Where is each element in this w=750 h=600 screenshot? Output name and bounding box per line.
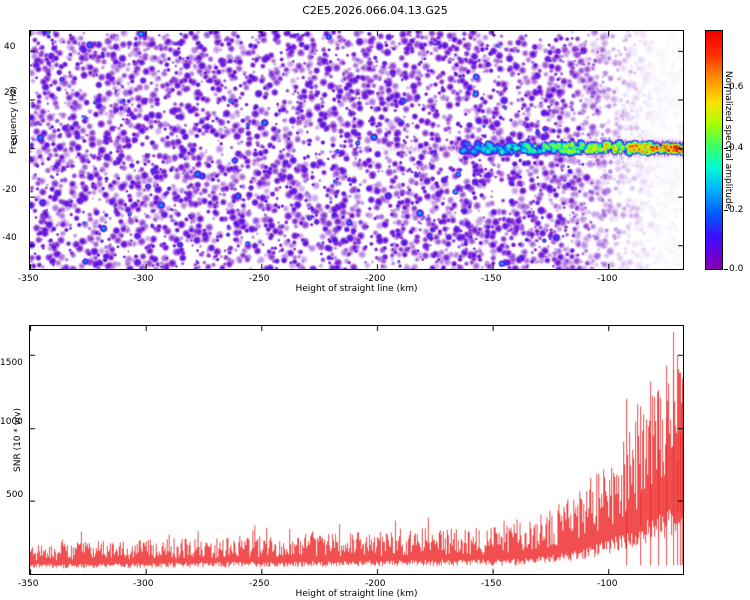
snr-xtick-150: -150 xyxy=(481,579,501,589)
spec-xtick-200: -200 xyxy=(365,274,385,284)
snr-xtick-300: -300 xyxy=(133,579,153,589)
spectrogram-x-axis-label: Height of straight line (km) xyxy=(29,284,684,294)
spectrogram-image xyxy=(30,31,683,269)
spec-xtick-250: -250 xyxy=(249,274,269,284)
snr-x-axis-label: Height of straight line (km) xyxy=(29,589,684,599)
spec-ytick-neg20: -20 xyxy=(2,185,17,195)
spectrogram-y-axis-label: Frequency (Hz) xyxy=(9,60,19,180)
colorbar-tick-0.0 xyxy=(724,269,728,270)
spec-ytick-neg40: -40 xyxy=(2,233,17,243)
snr-xtick-250: -250 xyxy=(249,579,269,589)
spectrogram-panel: 40 20 0 -20 -40 -350 -300 -250 -200 -150… xyxy=(0,0,750,300)
colorbar-ticklabel-0.0: 0.0 xyxy=(729,264,743,274)
spec-ytick-40: 40 xyxy=(4,42,15,52)
figure-root: C2E5.2026.066.04.13.G25 40 20 0 -20 -40 … xyxy=(0,0,750,600)
spec-xtick-150: -150 xyxy=(481,274,501,284)
spectrogram-plot-area xyxy=(29,30,684,270)
snr-xtick-350: -350 xyxy=(18,579,38,589)
spec-xtick-100: -100 xyxy=(597,274,617,284)
snr-ytick-1500: 1500 xyxy=(0,358,23,368)
snr-line-series xyxy=(30,326,683,574)
spec-xtick-300: -300 xyxy=(133,274,153,284)
snr-plot-area xyxy=(29,325,684,575)
snr-y-axis-label: SNR (10 * v/v) xyxy=(13,370,23,510)
colorbar-axis-label: Normalized spectral amplitude xyxy=(723,20,733,260)
colorbar-gradient xyxy=(705,30,723,270)
spec-xtick-350: -350 xyxy=(18,274,38,284)
snr-xtick-100: -100 xyxy=(597,579,617,589)
snr-xtick-200: -200 xyxy=(365,579,385,589)
colorbar: 0.6 0.4 0.2 0.0 Normalized spectral ampl… xyxy=(705,30,727,270)
snr-panel: 1500 1000 500 -350 -300 -250 -200 -150 -… xyxy=(0,310,750,600)
